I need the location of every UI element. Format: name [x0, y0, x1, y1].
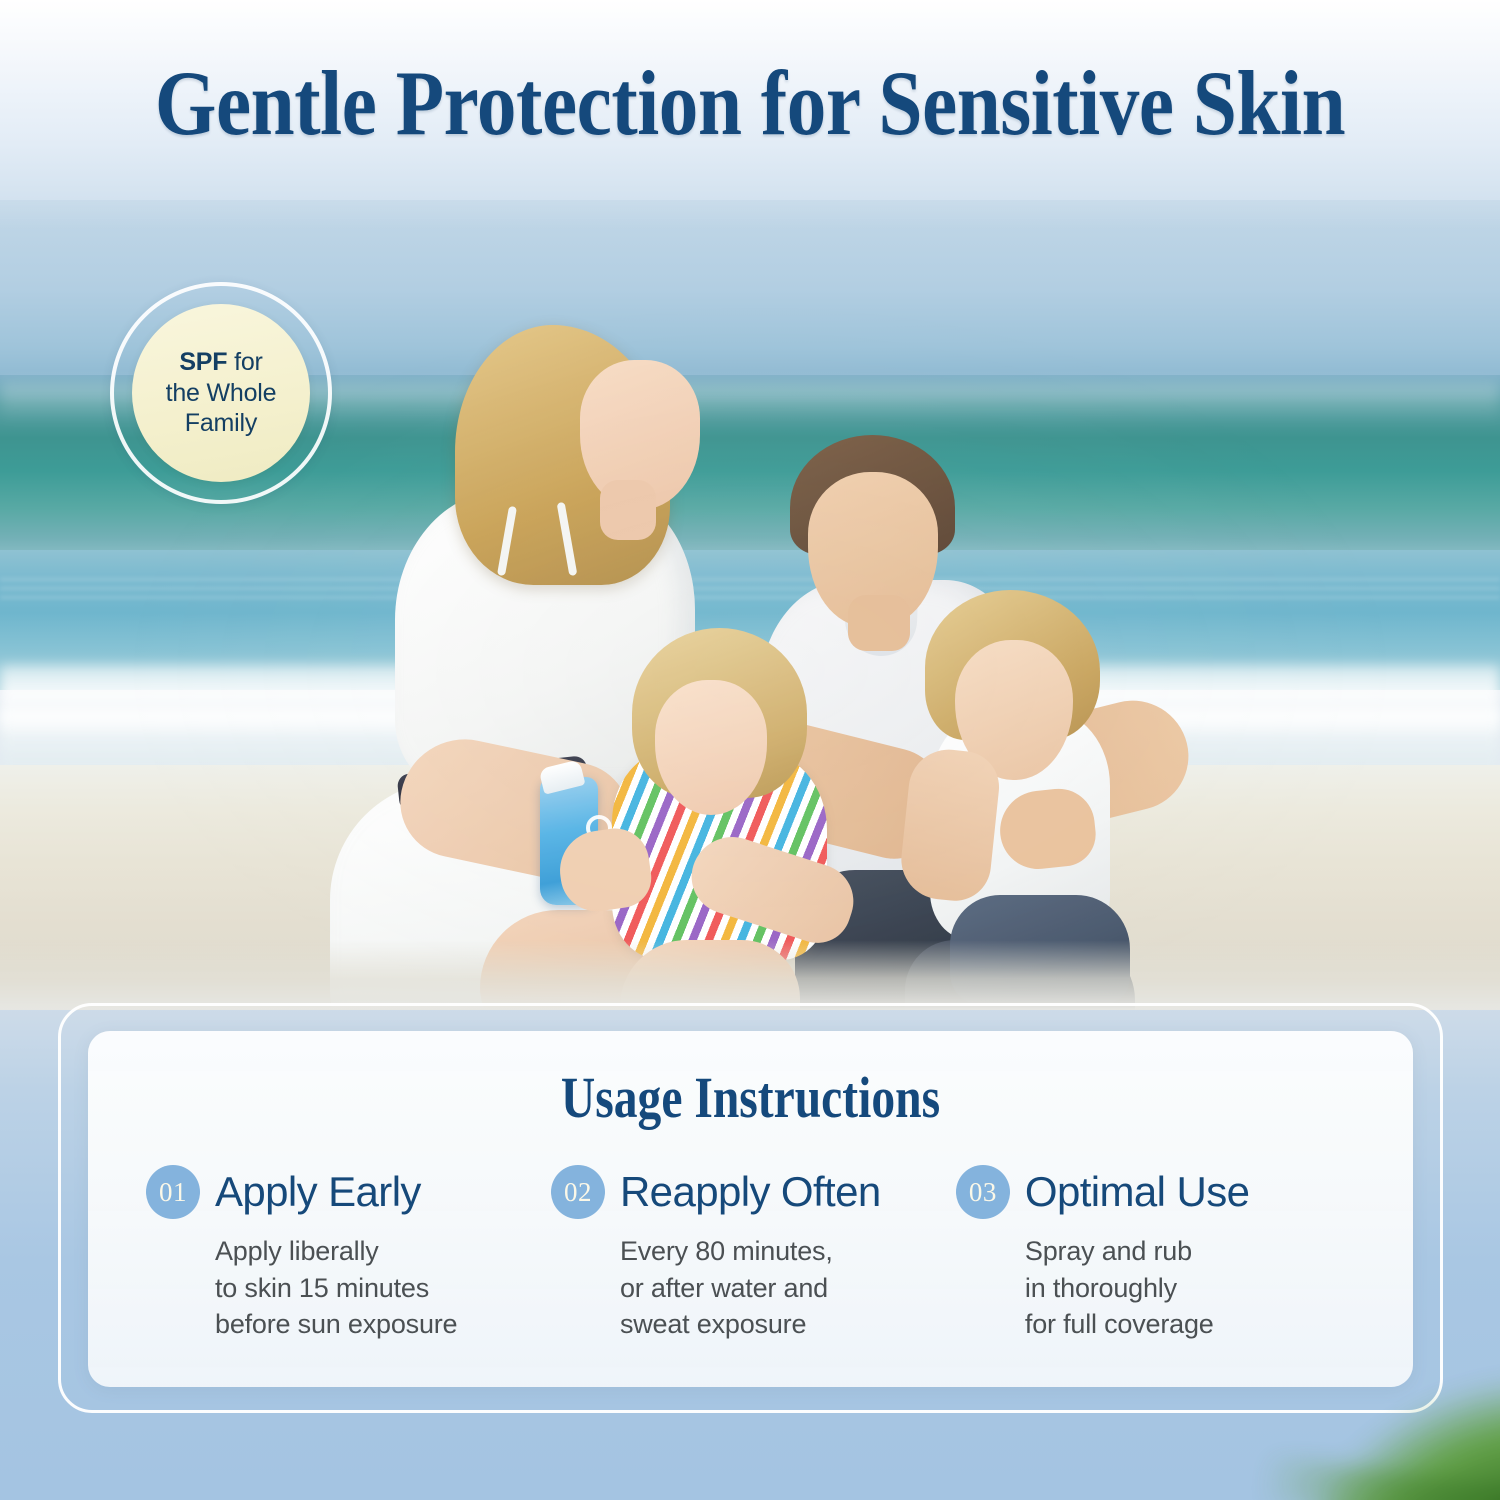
usage-step-3-head: 03 Optimal Use — [956, 1165, 1337, 1219]
step-body-2: Every 80 minutes, or after water and swe… — [620, 1233, 932, 1343]
page-title: Gentle Protection for Sensitive Skin — [155, 57, 1345, 149]
spf-badge-acronym: SPF — [179, 348, 227, 376]
step-title-3: Optimal Use — [1025, 1171, 1249, 1213]
usage-panel-title: Usage Instructions — [207, 1069, 1294, 1127]
spf-badge: SPF for the Whole Family — [110, 282, 332, 504]
header-bar: Gentle Protection for Sensitive Skin — [0, 0, 1500, 200]
infographic-canvas: Gentle Protection for Sensitive Skin SPF… — [0, 0, 1500, 1500]
spf-badge-line-1: SPF for — [166, 347, 277, 378]
step-body-3: Spray and rub in thoroughly for full cov… — [1025, 1233, 1337, 1343]
spf-badge-line-1-rest: for — [227, 348, 262, 376]
photo-bottom-fade — [0, 940, 1500, 1010]
step-number-badge-2: 02 — [551, 1165, 605, 1219]
step-title-1: Apply Early — [215, 1171, 421, 1213]
beach-family-photo — [0, 150, 1500, 1010]
usage-step-2-head: 02 Reapply Often — [551, 1165, 932, 1219]
spf-badge-disc: SPF for the Whole Family — [132, 304, 310, 482]
son-arm — [897, 746, 1002, 905]
usage-step-1: 01 Apply Early Apply liberally to skin 1… — [146, 1165, 551, 1343]
spf-badge-text: SPF for the Whole Family — [166, 347, 277, 439]
usage-step-3: 03 Optimal Use Spray and rub in thorough… — [956, 1165, 1361, 1343]
step-body-1: Apply liberally to skin 15 minutes befor… — [215, 1233, 527, 1343]
family-group — [0, 150, 1500, 1010]
father-neck — [848, 595, 910, 651]
usage-step-2: 02 Reapply Often Every 80 minutes, or af… — [551, 1165, 956, 1343]
step-number-badge-1: 01 — [146, 1165, 200, 1219]
step-title-2: Reapply Often — [620, 1171, 881, 1213]
spf-badge-line-3: Family — [166, 408, 277, 439]
usage-step-1-head: 01 Apply Early — [146, 1165, 527, 1219]
usage-steps-row: 01 Apply Early Apply liberally to skin 1… — [88, 1165, 1413, 1343]
usage-instructions-panel: Usage Instructions 01 Apply Early Apply … — [88, 1031, 1413, 1387]
step-number-badge-3: 03 — [956, 1165, 1010, 1219]
mother-neck — [600, 480, 656, 540]
spf-badge-line-2: the Whole — [166, 378, 277, 409]
